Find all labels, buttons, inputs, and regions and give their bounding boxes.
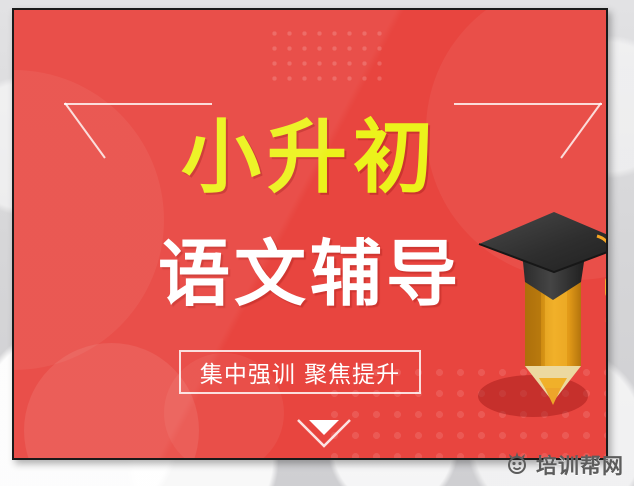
graduation-cap-pencil-icon	[469, 206, 606, 426]
watermark-text: 培训帮网	[536, 450, 624, 480]
poster-frame: 小升初 语文辅导 集中强训 聚焦提升	[12, 8, 608, 460]
dot-grid-top	[267, 26, 387, 82]
chevron-down-icon	[296, 416, 352, 450]
headline-primary: 小升初	[14, 118, 606, 198]
corner-rule-left-horizontal	[64, 103, 212, 105]
corner-rule-right-horizontal	[454, 103, 602, 105]
subtitle-box: 集中强训 聚焦提升	[179, 350, 421, 394]
poster-canvas: 小升初 语文辅导 集中强训 聚焦提升	[14, 10, 606, 458]
page-backdrop: 小升初 语文辅导 集中强训 聚焦提升	[0, 0, 634, 486]
watermark: 培训帮网	[501, 448, 628, 482]
sun-smiley-icon	[505, 452, 529, 479]
subtitle-text: 集中强训 聚焦提升	[200, 355, 400, 389]
